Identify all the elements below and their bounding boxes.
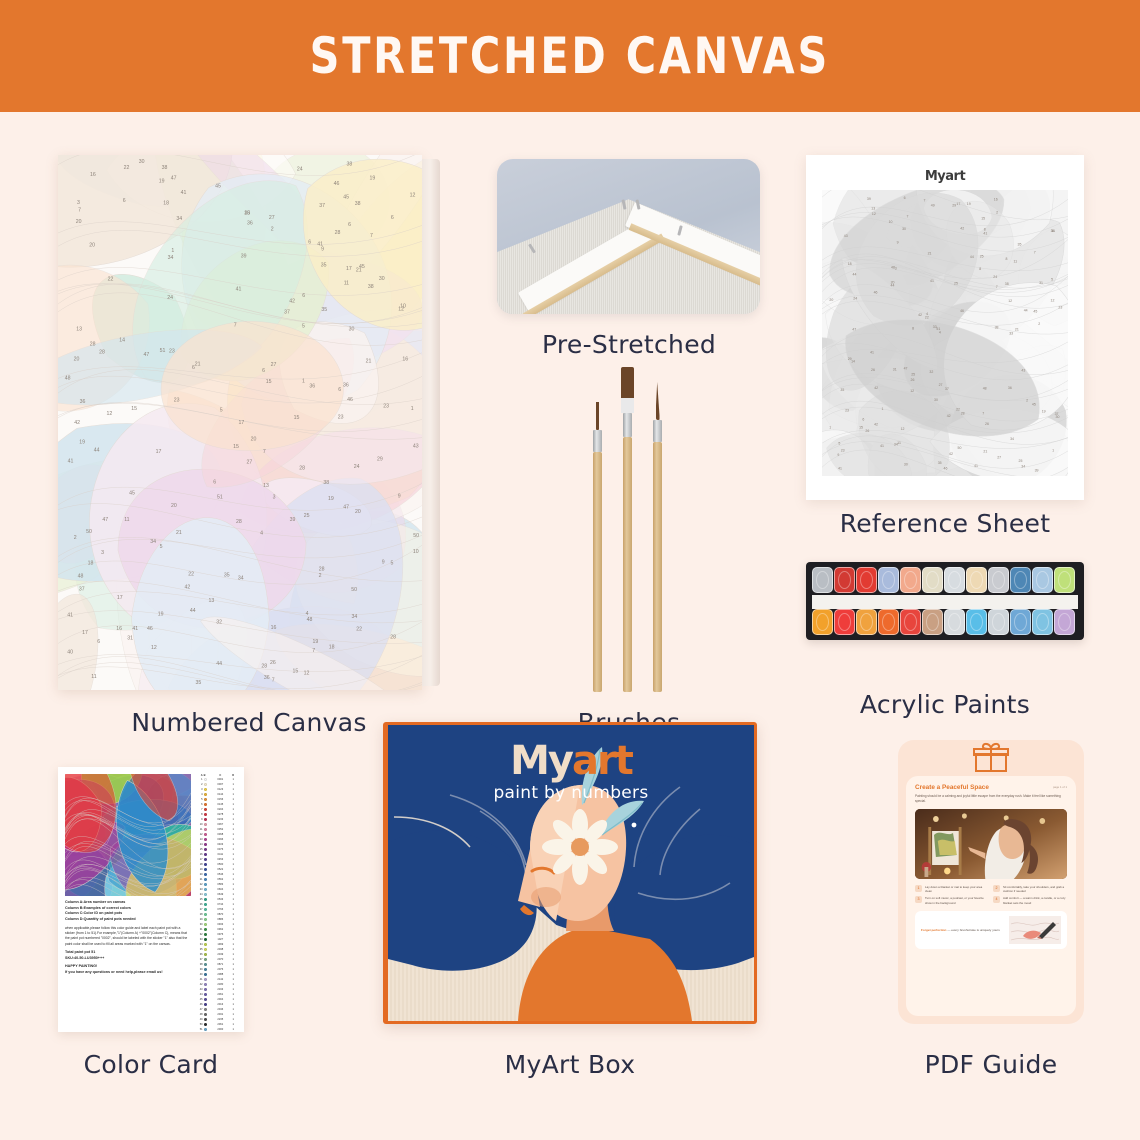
page-title: STRETCHED CANVAS <box>310 27 830 85</box>
svg-text:26: 26 <box>865 429 869 433</box>
color-dot <box>204 893 207 896</box>
paint-pot[interactable] <box>1032 567 1053 593</box>
svg-text:11: 11 <box>124 517 129 523</box>
svg-text:35: 35 <box>224 573 230 579</box>
svg-text:50: 50 <box>86 529 92 535</box>
paint-pot[interactable] <box>966 609 987 635</box>
svg-text:37: 37 <box>284 309 290 315</box>
svg-text:6: 6 <box>302 293 305 299</box>
contact-line: If you have any questions or need help,p… <box>65 970 163 974</box>
color-dot <box>204 793 207 796</box>
color-dot <box>204 933 207 936</box>
svg-text:3: 3 <box>77 200 80 206</box>
svg-text:35: 35 <box>938 461 942 465</box>
svg-text:2: 2 <box>1026 399 1028 403</box>
svg-text:12: 12 <box>872 212 876 216</box>
tip-number-icon: 4 <box>993 896 1000 903</box>
paint-pot[interactable] <box>1032 609 1053 635</box>
svg-text:26: 26 <box>871 368 875 372</box>
paint-pot[interactable] <box>834 609 855 635</box>
svg-text:38: 38 <box>1005 282 1009 286</box>
svg-text:22: 22 <box>925 315 929 319</box>
svg-text:24: 24 <box>167 295 173 301</box>
svg-text:46: 46 <box>147 626 153 632</box>
svg-text:3: 3 <box>895 267 897 271</box>
svg-text:51: 51 <box>160 348 166 354</box>
svg-text:28: 28 <box>99 349 105 355</box>
svg-text:45: 45 <box>1033 310 1037 314</box>
svg-text:41: 41 <box>983 232 987 236</box>
svg-text:17: 17 <box>239 420 245 426</box>
numbered-canvas-art: 1820106423511151528233334763834303261520… <box>58 155 422 690</box>
svg-text:15: 15 <box>859 426 863 430</box>
svg-text:10: 10 <box>889 220 893 224</box>
tip-text: Sit comfortably, take your shoulders, an… <box>1003 885 1066 894</box>
pdf-guide-card: page 1 of 1 Create a Peaceful Space Pain… <box>898 740 1084 1024</box>
svg-text:44: 44 <box>216 661 222 667</box>
pdf-guide-tip: 3Turn on soft music, a podcast, or your … <box>915 896 988 905</box>
paint-pot[interactable] <box>988 567 1009 593</box>
svg-text:31: 31 <box>893 367 897 371</box>
svg-text:24: 24 <box>993 275 997 279</box>
brush-flat <box>623 367 632 692</box>
svg-text:1: 1 <box>302 379 305 385</box>
pdf-title-rest: a Peaceful Space <box>935 784 989 791</box>
svg-text:13: 13 <box>871 207 875 211</box>
color-dot <box>204 838 207 841</box>
svg-text:2: 2 <box>1038 322 1040 326</box>
svg-text:25: 25 <box>1019 459 1023 463</box>
svg-text:27: 27 <box>997 456 1001 460</box>
paint-pot[interactable] <box>922 609 943 635</box>
caption-pdf-guide: PDF Guide <box>898 1050 1084 1079</box>
color-dot <box>204 908 207 911</box>
svg-text:7: 7 <box>996 285 998 289</box>
svg-text:42: 42 <box>874 422 878 426</box>
color-dot <box>204 783 207 786</box>
svg-text:5: 5 <box>391 561 394 567</box>
color-card-instructions: when applicable,please follow this color… <box>65 926 191 947</box>
reference-sheet-paper: Myart 2774144364281844713334232302241112… <box>806 155 1084 500</box>
svg-text:20: 20 <box>829 298 833 302</box>
paint-pot[interactable] <box>900 567 921 593</box>
color-dot <box>204 1028 207 1031</box>
color-dot <box>204 848 207 851</box>
cell-color-id: 2000 <box>211 1028 229 1033</box>
svg-text:12: 12 <box>1008 299 1012 303</box>
svg-text:18: 18 <box>163 200 169 206</box>
svg-text:34: 34 <box>176 216 182 222</box>
legend-line-c: Column C:Color ID on paint pots <box>65 911 122 915</box>
svg-text:9: 9 <box>382 559 385 565</box>
svg-text:30: 30 <box>139 159 145 165</box>
svg-text:6: 6 <box>348 222 351 228</box>
svg-text:17: 17 <box>82 630 88 636</box>
paint-pot[interactable] <box>1010 567 1031 593</box>
svg-text:2: 2 <box>271 226 274 232</box>
color-dot <box>204 903 207 906</box>
svg-text:27: 27 <box>247 460 253 466</box>
color-dot <box>204 918 207 921</box>
canvas-wrapped-edge <box>422 159 440 686</box>
svg-text:12: 12 <box>910 389 914 393</box>
svg-text:45: 45 <box>1032 402 1036 406</box>
color-dot <box>204 868 207 871</box>
color-dot <box>204 843 207 846</box>
callout-thumbnail <box>1009 916 1061 944</box>
paint-pot[interactable] <box>1010 609 1031 635</box>
svg-text:41: 41 <box>236 287 242 293</box>
svg-text:38: 38 <box>368 284 374 290</box>
tray-label-strip <box>812 595 1078 609</box>
svg-text:42: 42 <box>289 299 295 305</box>
color-dot <box>204 778 207 781</box>
svg-text:28: 28 <box>90 342 96 348</box>
reference-sheet-logo: Myart <box>822 169 1068 184</box>
color-dot <box>204 963 207 966</box>
legend-line-b: Column B:Examples of correct colors <box>65 906 131 910</box>
svg-text:37: 37 <box>79 586 85 592</box>
paint-pot[interactable] <box>1054 567 1075 593</box>
svg-text:41: 41 <box>838 467 842 471</box>
svg-text:25: 25 <box>911 373 915 377</box>
svg-text:21: 21 <box>366 359 372 365</box>
svg-text:21: 21 <box>928 252 932 256</box>
svg-text:45: 45 <box>215 184 221 190</box>
svg-text:7: 7 <box>982 411 984 415</box>
svg-text:17: 17 <box>156 449 162 455</box>
paint-pot-row-bottom <box>812 609 1075 635</box>
color-dot <box>204 853 207 856</box>
svg-text:28: 28 <box>236 519 242 525</box>
svg-text:14: 14 <box>851 359 855 363</box>
color-dot <box>204 833 207 836</box>
svg-text:10: 10 <box>413 549 419 555</box>
svg-text:7: 7 <box>907 214 909 218</box>
svg-text:20: 20 <box>355 509 361 515</box>
svg-text:34: 34 <box>150 539 156 545</box>
svg-text:40: 40 <box>67 650 73 656</box>
svg-text:7: 7 <box>924 199 926 203</box>
svg-text:12: 12 <box>901 427 905 431</box>
svg-text:12: 12 <box>398 306 404 312</box>
svg-text:38: 38 <box>323 480 329 486</box>
svg-text:21: 21 <box>195 362 201 368</box>
svg-text:7: 7 <box>78 207 81 213</box>
svg-text:41: 41 <box>132 626 138 632</box>
svg-text:3: 3 <box>273 494 276 500</box>
color-dot <box>204 953 207 956</box>
svg-text:39: 39 <box>1035 468 1039 472</box>
svg-text:48: 48 <box>307 617 313 623</box>
paint-pot[interactable] <box>988 609 1009 635</box>
color-card-table: ABCD100011200071301231401441501561601451… <box>195 774 237 1025</box>
svg-text:18: 18 <box>848 262 852 266</box>
svg-text:18: 18 <box>88 561 94 567</box>
color-dot <box>204 973 207 976</box>
svg-text:7: 7 <box>312 648 315 654</box>
svg-text:16: 16 <box>90 172 96 178</box>
svg-text:48: 48 <box>891 266 895 270</box>
svg-text:47: 47 <box>171 176 177 182</box>
svg-text:1: 1 <box>829 425 831 429</box>
paint-pot[interactable] <box>944 609 965 635</box>
svg-text:42: 42 <box>947 414 951 418</box>
color-dot <box>204 873 207 876</box>
paint-pot[interactable] <box>1054 609 1075 635</box>
svg-text:15: 15 <box>293 669 299 675</box>
svg-text:11: 11 <box>91 674 96 680</box>
svg-text:8: 8 <box>1006 257 1008 261</box>
svg-text:41: 41 <box>67 613 73 619</box>
svg-text:37: 37 <box>945 387 949 391</box>
svg-text:44: 44 <box>1024 308 1028 312</box>
svg-text:30: 30 <box>379 276 385 282</box>
svg-text:32: 32 <box>216 619 222 625</box>
color-dot <box>204 983 207 986</box>
color-card-art <box>65 774 191 896</box>
color-dot <box>204 993 207 996</box>
color-dot <box>204 808 207 811</box>
color-dot <box>204 1013 207 1016</box>
svg-text:48: 48 <box>983 386 987 390</box>
color-dot <box>204 978 207 981</box>
svg-text:15: 15 <box>266 379 272 385</box>
reference-sheet-item: Myart 2774144364281844713334232302241112… <box>806 155 1084 500</box>
color-card-text: Column A:Area number on canvas Column B:… <box>65 896 191 976</box>
color-dot <box>204 923 207 926</box>
svg-text:20: 20 <box>89 243 95 249</box>
svg-text:4: 4 <box>939 331 941 335</box>
caption-myart-box: MyArt Box <box>383 1050 757 1079</box>
svg-text:28: 28 <box>390 635 396 641</box>
paint-pot-row-top <box>812 567 1075 593</box>
caption-acrylic-paints: Acrylic Paints <box>806 690 1084 719</box>
svg-text:46: 46 <box>874 291 878 295</box>
svg-text:28: 28 <box>961 411 965 415</box>
svg-text:18: 18 <box>329 645 335 651</box>
color-dot <box>204 883 207 886</box>
svg-text:19: 19 <box>967 202 971 206</box>
svg-text:35: 35 <box>321 307 327 313</box>
svg-text:39: 39 <box>290 517 296 523</box>
color-dot <box>204 828 207 831</box>
tip-number-icon: 1 <box>915 885 922 892</box>
svg-text:19: 19 <box>370 175 376 181</box>
svg-text:28: 28 <box>319 567 325 573</box>
svg-text:23: 23 <box>845 409 849 413</box>
svg-text:19: 19 <box>159 178 165 184</box>
svg-text:43: 43 <box>844 234 848 238</box>
svg-text:41: 41 <box>870 350 874 354</box>
pdf-guide-tip: 1Lay down a blanket or mat to keep your … <box>915 885 988 894</box>
svg-text:44: 44 <box>970 255 974 259</box>
color-dot <box>204 813 207 816</box>
svg-text:23: 23 <box>841 448 845 452</box>
svg-text:34: 34 <box>1021 464 1025 468</box>
svg-text:28: 28 <box>299 465 305 471</box>
svg-text:12: 12 <box>304 670 310 676</box>
svg-text:22: 22 <box>956 408 960 412</box>
svg-text:38: 38 <box>347 162 353 168</box>
svg-text:35: 35 <box>1018 242 1022 246</box>
svg-text:20: 20 <box>891 281 895 285</box>
paint-pot[interactable] <box>856 567 877 593</box>
svg-text:9: 9 <box>837 453 839 457</box>
svg-text:7: 7 <box>1034 250 1036 254</box>
svg-text:9: 9 <box>897 241 899 245</box>
color-dot <box>204 913 207 916</box>
svg-text:12: 12 <box>107 411 113 417</box>
cell-quantity: 1 <box>229 1028 237 1033</box>
svg-text:5: 5 <box>160 544 163 550</box>
svg-text:5: 5 <box>302 324 305 330</box>
callout-rest: — every brushstroke is uniquely yours <box>946 928 999 932</box>
svg-text:34: 34 <box>352 614 358 620</box>
color-dot <box>204 878 207 881</box>
paint-pot[interactable] <box>812 567 833 593</box>
svg-text:6: 6 <box>262 368 265 374</box>
tip-text: Add comfort — a warm drink, a candle, or… <box>1003 896 1066 905</box>
color-dot <box>204 818 207 821</box>
svg-text:48: 48 <box>78 573 84 579</box>
pre-stretched-item <box>497 159 760 314</box>
svg-text:18: 18 <box>244 211 250 217</box>
myart-box-logo: Myart <box>388 738 754 784</box>
color-dot <box>204 988 207 991</box>
svg-text:12: 12 <box>410 192 416 198</box>
svg-text:5: 5 <box>220 408 223 414</box>
svg-text:41: 41 <box>974 464 978 468</box>
color-dot <box>204 788 207 791</box>
color-dot <box>204 1003 207 1006</box>
svg-text:44: 44 <box>853 273 857 277</box>
svg-text:20: 20 <box>171 503 177 509</box>
pre-stretched-photo <box>497 159 760 314</box>
svg-text:21: 21 <box>983 450 987 454</box>
svg-text:26: 26 <box>911 378 915 382</box>
svg-text:45: 45 <box>343 195 349 201</box>
pdf-guide-tip: 2Sit comfortably, take your shoulders, a… <box>993 885 1066 894</box>
pdf-guide-photo <box>915 809 1067 879</box>
pdf-page-label: page 1 of 1 <box>1053 785 1067 789</box>
svg-text:19: 19 <box>1042 410 1046 414</box>
svg-text:16: 16 <box>271 625 277 631</box>
sku-line: SKU:40-50-LU3950+++ <box>65 956 104 960</box>
pdf-guide-tip: 4Add comfort — a warm drink, a candle, o… <box>993 896 1066 905</box>
tip-number-icon: 3 <box>915 896 922 903</box>
svg-text:36: 36 <box>264 675 270 681</box>
svg-text:17: 17 <box>117 595 123 601</box>
paint-pot[interactable] <box>812 609 833 635</box>
svg-text:22: 22 <box>124 165 130 171</box>
svg-text:42: 42 <box>185 584 191 590</box>
color-dot <box>204 943 207 946</box>
svg-text:9: 9 <box>398 493 401 499</box>
pdf-title-highlight: Create <box>915 784 935 791</box>
svg-text:34: 34 <box>1051 229 1055 233</box>
svg-text:36: 36 <box>309 384 315 390</box>
svg-text:23: 23 <box>169 349 175 355</box>
svg-text:47: 47 <box>904 366 908 370</box>
paint-pot[interactable] <box>856 609 877 635</box>
svg-text:28: 28 <box>335 230 341 236</box>
acrylic-paints-item <box>806 562 1084 642</box>
svg-text:43: 43 <box>413 444 419 450</box>
svg-text:12: 12 <box>151 645 157 651</box>
total-paint-pot: Total paint pot 51 <box>65 950 95 954</box>
pdf-guide-tips: 1Lay down a blanket or mat to keep your … <box>915 885 1067 905</box>
color-dot <box>204 958 207 961</box>
svg-text:47: 47 <box>144 352 150 358</box>
pdf-guide-callout: Forget perfection — every brushstroke is… <box>915 911 1067 949</box>
gift-icon <box>971 742 1011 772</box>
svg-text:23: 23 <box>338 415 344 421</box>
cell-area-number: 51 <box>195 1028 204 1033</box>
svg-text:45: 45 <box>129 490 135 496</box>
paint-pot[interactable] <box>922 567 943 593</box>
svg-text:26: 26 <box>985 422 989 426</box>
svg-text:42: 42 <box>918 313 922 317</box>
color-dot <box>204 998 207 1001</box>
svg-text:31: 31 <box>1039 281 1043 285</box>
paint-pot[interactable] <box>834 567 855 593</box>
paint-pot[interactable] <box>966 567 987 593</box>
svg-text:42: 42 <box>874 386 878 390</box>
svg-text:42: 42 <box>960 227 964 231</box>
svg-text:35: 35 <box>321 263 327 269</box>
svg-text:41: 41 <box>930 279 934 283</box>
svg-text:41: 41 <box>181 190 187 196</box>
svg-text:42: 42 <box>949 452 953 456</box>
svg-text:16: 16 <box>994 198 998 202</box>
pdf-guide-subtitle: Painting should be a calming and joyful … <box>915 794 1067 804</box>
svg-text:24: 24 <box>853 297 857 301</box>
svg-text:26: 26 <box>270 660 276 666</box>
brushes-item <box>575 347 685 692</box>
color-dot <box>204 858 207 861</box>
paint-pot[interactable] <box>900 609 921 635</box>
svg-text:25: 25 <box>304 513 310 519</box>
svg-text:34: 34 <box>168 255 174 261</box>
legend-line-a: Column A:Area number on canvas <box>65 900 125 904</box>
table-row: 5120001 <box>195 1028 237 1033</box>
logo-my-text: My <box>510 738 572 784</box>
color-dot <box>204 798 207 801</box>
svg-text:13: 13 <box>76 326 82 332</box>
svg-text:4: 4 <box>260 530 263 536</box>
svg-text:7: 7 <box>272 678 275 684</box>
color-dot <box>204 823 207 826</box>
svg-text:6: 6 <box>213 479 216 485</box>
svg-text:35: 35 <box>196 680 202 686</box>
svg-text:11: 11 <box>1014 259 1018 263</box>
color-dot <box>204 863 207 866</box>
svg-text:27: 27 <box>269 215 275 221</box>
svg-text:21: 21 <box>1015 328 1019 332</box>
svg-text:41: 41 <box>68 459 74 465</box>
pdf-guide-item: page 1 of 1 Create a Peaceful Space Pain… <box>898 740 1084 1024</box>
paint-pot[interactable] <box>944 567 965 593</box>
svg-text:6: 6 <box>391 215 394 221</box>
svg-text:50: 50 <box>958 446 962 450</box>
svg-text:48: 48 <box>65 376 71 382</box>
paint-pot[interactable] <box>878 567 899 593</box>
svg-text:44: 44 <box>190 608 196 614</box>
svg-text:37: 37 <box>1055 412 1059 416</box>
paint-pot[interactable] <box>878 609 899 635</box>
logo-art-text: art <box>572 738 632 784</box>
